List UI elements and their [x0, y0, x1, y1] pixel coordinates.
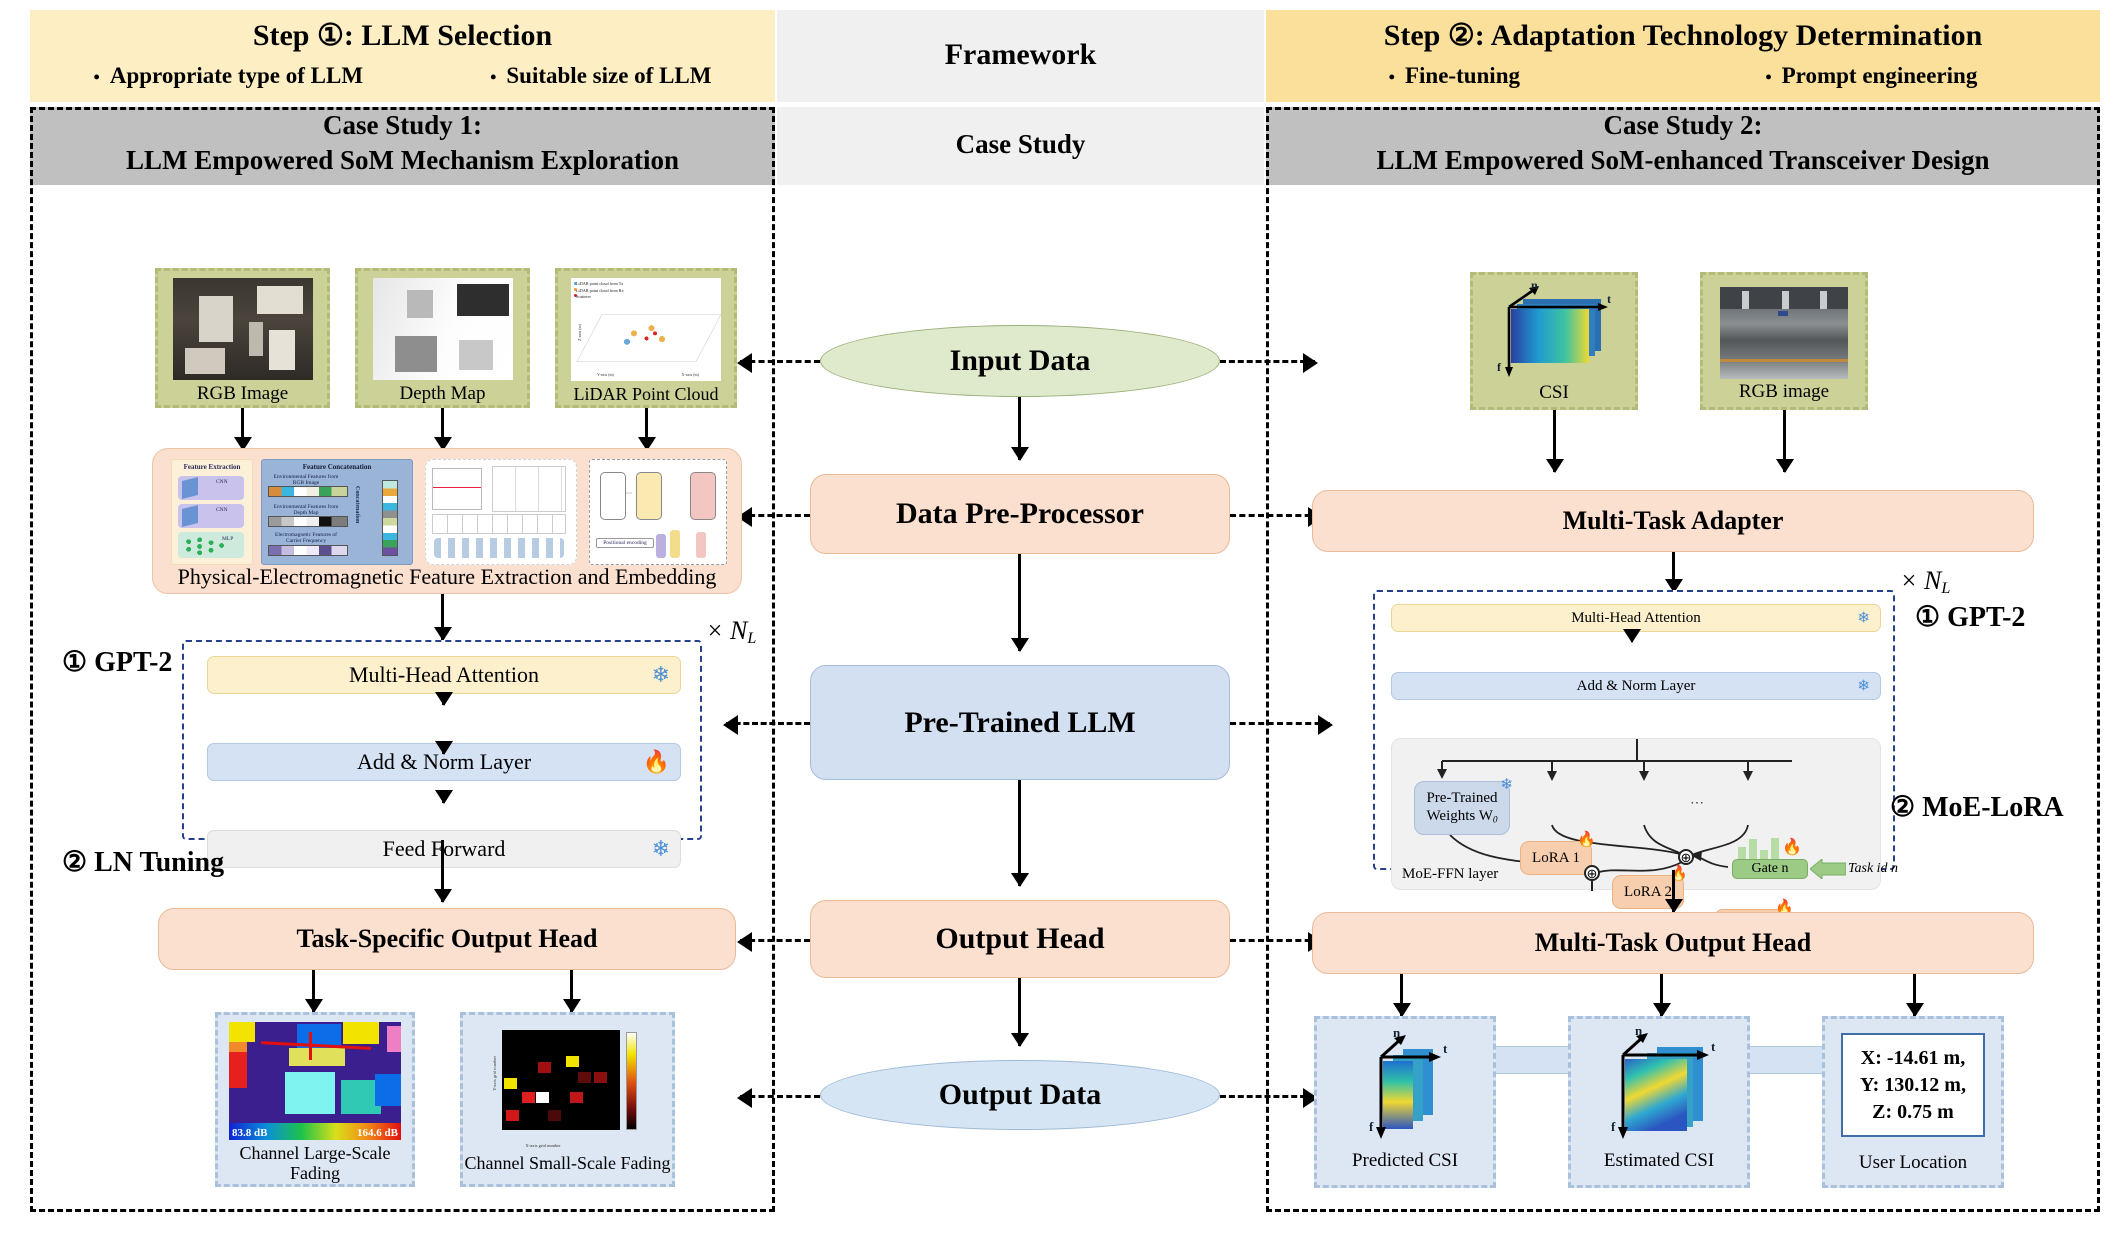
task-id-label: Task id n — [1848, 861, 1898, 877]
left-layer-arrow-0 — [442, 694, 445, 705]
connector-input-left — [740, 360, 820, 363]
encoder-label-1: CNN — [216, 507, 228, 513]
connector-outhead-left — [740, 939, 810, 942]
left-output-large-fading-caption: Channel Large-Scale Fading — [218, 1144, 412, 1184]
user-location-line-0: X: -14.61 m, — [1861, 1045, 1965, 1072]
frozen-icon: ❄ — [1857, 609, 1870, 628]
frozen-icon: ❄ — [652, 662, 670, 688]
feature-label-0: Environmental Features from RGB Image — [268, 474, 344, 486]
lidar-z-axis-label: Z-axis (m) — [577, 324, 582, 341]
lora-expert-0-label: LoRA 1 — [1532, 850, 1580, 867]
tuned-icon: 🔥 — [643, 749, 670, 775]
right-output-estimated-csi-caption: Estimated CSI — [1571, 1151, 1747, 1172]
right-output-predicted-csi-caption: Predicted CSI — [1317, 1151, 1493, 1172]
lidar-legend-0: LiDAR point cloud from Tx — [576, 281, 624, 288]
header-left-bullet-0: Appropriate type of LLM — [94, 63, 364, 89]
arrow-outhead-to-smallfade — [570, 970, 573, 1012]
diagram-root: Step ①: LLM Selection Appropriate type o… — [0, 0, 2121, 1235]
node-output-head[interactable]: Output Head — [810, 900, 1230, 978]
right-adapt-label-one: ① GPT-2 — [1915, 600, 2025, 634]
left-input-depth-caption: Depth Map — [358, 384, 527, 405]
right-layer-0[interactable]: Multi-Head Attention ❄ — [1391, 604, 1881, 632]
user-location-line-1: Y: 130.12 m, — [1860, 1072, 1966, 1099]
left-repeat-text: × N — [706, 616, 747, 645]
feature-box-caption: Physical-Electromagnetic Feature Extract… — [153, 564, 741, 590]
left-input-depth[interactable]: Depth Map — [355, 268, 530, 408]
left-adapt-label-two: ② LN Tuning — [62, 845, 224, 879]
arrow-llm-to-outhead — [1018, 780, 1021, 886]
arrow-depth-to-feature — [441, 408, 444, 450]
svg-text:t: t — [1607, 292, 1611, 306]
arrow-outhead-to-outdata — [1018, 978, 1021, 1046]
node-data-preprocessor[interactable]: Data Pre-Processor — [810, 474, 1230, 554]
encoder-label-2: MLP — [222, 536, 233, 542]
header-center-title: Framework — [777, 10, 1264, 72]
right-layer-1[interactable]: Add & Norm Layer ❄ — [1391, 672, 1881, 700]
lora-expert-1-label: LoRA 2 — [1624, 884, 1672, 901]
lidar-x-axis-label: X-axis (m) — [682, 372, 699, 377]
header-right-band: Step ②: Adaptation Technology Determinat… — [1266, 10, 2100, 102]
arrow-right-transformer-to-outhead — [1672, 870, 1675, 912]
feature-extraction-title: Feature Extraction — [172, 463, 252, 471]
node-pretrained-llm-label: Pre-Trained LLM — [904, 706, 1135, 740]
arrow-rgb-to-adapter — [1783, 410, 1786, 472]
right-output-user-location[interactable]: X: -14.61 m, Y: 130.12 m, Z: 0.75 m User… — [1822, 1016, 2004, 1188]
gate-box[interactable]: Gate n — [1732, 859, 1808, 879]
header-left-band: Step ①: LLM Selection Appropriate type o… — [30, 10, 775, 102]
connector-input-right — [1220, 360, 1315, 363]
node-output-data[interactable]: Output Data — [820, 1060, 1220, 1130]
svg-text:n: n — [1531, 281, 1538, 292]
left-input-lidar-caption: LiDAR Point Cloud — [558, 385, 734, 405]
arrow-outhead-to-estimated — [1660, 974, 1663, 1016]
right-repeat-label: × NL — [1900, 566, 1950, 598]
svg-text:n: n — [1393, 1025, 1401, 1040]
pretrained-weights-box[interactable]: Pre-Trained Weights W0 ❄ — [1414, 781, 1510, 835]
right-output-predicted-csi[interactable]: n t f Predicted CSI — [1314, 1016, 1496, 1188]
left-task-output-head-label: Task-Specific Output Head — [297, 924, 598, 954]
lora-expert-0[interactable]: LoRA 1 🔥 — [1520, 841, 1592, 875]
connector-preproc-left — [740, 514, 810, 517]
feature-concatenation-title: Feature Concatenation — [262, 463, 412, 471]
header-left-bullet-1: Suitable size of LLM — [490, 63, 711, 89]
feature-label-1: Environmental Features from Depth Map — [268, 504, 344, 516]
right-multitask-output-head-label: Multi-Task Output Head — [1535, 928, 1811, 958]
user-location-line-2: Z: 0.75 m — [1872, 1099, 1954, 1126]
right-multitask-adapter-label: Multi-Task Adapter — [1563, 506, 1784, 536]
left-input-rgb[interactable]: RGB Image — [155, 268, 330, 408]
arrow-feature-to-transformer — [441, 594, 444, 640]
connector-outhead-right — [1230, 939, 1320, 942]
feature-extraction-box[interactable]: Feature Extraction CNN CNN MLP Feature C… — [152, 448, 742, 594]
lora-ellipsis: ⋯ — [1690, 795, 1704, 812]
waveform-grid-panel — [425, 459, 577, 565]
right-adapt-label-two: ② MoE-LoRA — [1890, 790, 2064, 824]
frozen-icon: ❄ — [1500, 776, 1513, 795]
right-repeat-sub: L — [1941, 580, 1950, 597]
right-repeat-text: × N — [1900, 566, 1941, 595]
right-layer-1-label: Add & Norm Layer — [1577, 678, 1696, 695]
user-location-values-box: X: -14.61 m, Y: 130.12 m, Z: 0.75 m — [1841, 1033, 1985, 1137]
feature-extraction-panel: Feature Extraction CNN CNN MLP — [171, 459, 253, 565]
tuned-icon: 🔥 — [1577, 830, 1596, 849]
colorbar-min-label: 83.8 dB — [232, 1127, 267, 1139]
left-input-lidar[interactable]: LiDAR point cloud from Tx LiDAR point cl… — [555, 268, 737, 408]
right-layer-arrow-0 — [1631, 632, 1633, 642]
encoder-label-0: CNN — [216, 479, 228, 485]
concatenation-label: Concatenation — [354, 486, 360, 523]
arrow-preproc-to-llm — [1018, 554, 1021, 651]
arrow-outhead-to-predicted — [1400, 974, 1403, 1016]
positional-embedding-panel: ⋯ Positional encoding — [589, 459, 727, 565]
svg-text:n: n — [1635, 1025, 1643, 1038]
connector-outdata-right — [1220, 1095, 1315, 1098]
colorbar-max-label: 164.6 dB — [357, 1127, 398, 1139]
arrow-csi-to-adapter — [1553, 410, 1556, 472]
oplus-symbol: ⊕ — [1587, 867, 1598, 880]
positional-encoding-label: Positional encoding — [596, 538, 654, 548]
depth-map-preview — [373, 278, 513, 380]
casebar-center: Case Study — [777, 107, 1264, 185]
left-repeat-sub: L — [747, 630, 756, 647]
svg-text:f: f — [1497, 360, 1502, 374]
pretrained-weights-label: Pre-Trained Weights W — [1426, 790, 1497, 825]
connector-outdata-left — [740, 1095, 820, 1098]
node-data-preprocessor-label: Data Pre-Processor — [896, 497, 1144, 531]
arrow-adapter-to-transformer — [1672, 552, 1675, 592]
small-fading-xlabel: X-axis grid number — [526, 1143, 561, 1148]
connector-llm-right — [1230, 722, 1330, 725]
tuned-icon: 🔥 — [1782, 837, 1802, 857]
right-input-csi[interactable]: n t f CSI — [1470, 272, 1638, 410]
left-layer-2-label: Feed Forward — [383, 836, 506, 862]
left-layer-arrow-2 — [442, 792, 445, 803]
right-input-rgb[interactable]: RGB image — [1700, 272, 1868, 410]
right-layer-0-label: Multi-Head Attention — [1571, 610, 1701, 627]
right-rgb-image-preview — [1720, 287, 1848, 379]
large-scale-fading-preview: 83.8 dB 164.6 dB — [229, 1022, 401, 1140]
left-transformer-block[interactable]: Multi-Head Attention ❄ Add & Norm Layer … — [182, 640, 702, 840]
pretrained-weights-sub: 0 — [1493, 816, 1498, 826]
node-output-data-label: Output Data — [939, 1078, 1102, 1112]
right-output-estimated-csi[interactable]: n t f Estimated CSI — [1568, 1016, 1750, 1188]
small-fading-ylabel: Y-axis grid number — [492, 1056, 497, 1091]
right-output-user-location-caption: User Location — [1825, 1153, 2001, 1174]
header-right-bullet-0: Fine-tuning — [1389, 63, 1520, 89]
connector-llm-left — [726, 722, 810, 725]
casebar-center-title: Case Study — [777, 107, 1264, 160]
sum-node-experts: ⊕ — [1678, 849, 1694, 865]
feature-concatenation-panel: Feature Concatenation Environmental Feat… — [261, 459, 413, 565]
arrow-input-to-preproc — [1018, 397, 1021, 460]
arrow-outhead-to-location — [1913, 974, 1916, 1016]
left-layer-0-label: Multi-Head Attention — [349, 662, 539, 688]
arrow-lidar-to-feature — [645, 408, 648, 450]
left-output-large-fading[interactable]: 83.8 dB 164.6 dB Channel Large-Scale Fad… — [215, 1012, 415, 1187]
sum-node-output: ⊕ — [1584, 865, 1600, 881]
right-input-rgb-caption: RGB image — [1703, 382, 1865, 403]
left-layer-arrow-1 — [442, 743, 445, 754]
header-left-title: Step ①: LLM Selection — [30, 10, 775, 53]
left-task-output-head[interactable]: Task-Specific Output Head — [158, 908, 736, 970]
oplus-symbol: ⊕ — [1681, 851, 1692, 864]
node-input-data[interactable]: Input Data — [820, 325, 1220, 397]
lidar-legend-2: Scatterer — [576, 294, 624, 301]
left-output-small-fading[interactable]: Y-axis grid number X-axis grid number Ch… — [460, 1012, 675, 1187]
node-pretrained-llm[interactable]: Pre-Trained LLM — [810, 665, 1230, 780]
header-right-title: Step ②: Adaptation Technology Determinat… — [1266, 10, 2100, 53]
gate-histogram-icon — [1738, 837, 1784, 859]
svg-text:t: t — [1711, 1039, 1716, 1054]
csi-cube-preview: n t f — [1479, 281, 1629, 381]
connector-preproc-right — [1230, 514, 1320, 517]
node-input-data-label: Input Data — [950, 344, 1091, 378]
left-layer-0[interactable]: Multi-Head Attention ❄ — [207, 656, 681, 694]
svg-text:t: t — [1443, 1041, 1448, 1056]
frozen-icon: ❄ — [652, 836, 670, 862]
node-output-head-label: Output Head — [935, 922, 1104, 956]
left-adapt-label-one: ① GPT-2 — [62, 645, 172, 679]
left-layer-2[interactable]: Feed Forward ❄ — [207, 830, 681, 868]
moe-ffn-layer[interactable]: Pre-Trained Weights W0 ❄ LoRA 1 🔥 LoRA 2… — [1391, 738, 1881, 890]
svg-text:f: f — [1369, 1119, 1374, 1134]
rgb-image-preview — [173, 278, 313, 380]
small-scale-fading-preview: Y-axis grid number X-axis grid number — [478, 1022, 658, 1150]
svg-text:f: f — [1611, 1119, 1616, 1134]
header-right-bullet-1: Prompt engineering — [1765, 63, 1977, 89]
right-input-csi-caption: CSI — [1473, 383, 1635, 404]
right-multitask-output-head[interactable]: Multi-Task Output Head — [1312, 912, 2034, 974]
lidar-point-cloud-preview: LiDAR point cloud from Tx LiDAR point cl… — [571, 278, 721, 381]
left-repeat-label: × NL — [706, 616, 756, 648]
right-multitask-adapter[interactable]: Multi-Task Adapter — [1312, 490, 2034, 552]
header-center-band: Framework — [777, 10, 1264, 102]
arrow-transformer-to-outhead-left — [441, 840, 444, 902]
left-input-rgb-caption: RGB Image — [158, 384, 327, 405]
left-output-small-fading-caption: Channel Small-Scale Fading — [463, 1154, 672, 1174]
moe-ffn-layer-label: MoE-FFN layer — [1402, 866, 1498, 883]
arrow-rgb-to-feature — [241, 408, 244, 450]
gate-label: Gate n — [1752, 861, 1789, 877]
right-transformer-block[interactable]: Multi-Head Attention ❄ Add & Norm Layer … — [1373, 590, 1895, 870]
arrow-outhead-to-largefade — [312, 970, 315, 1012]
feature-label-2: Electromagnetic Features of Carrier Freq… — [268, 532, 344, 544]
frozen-icon: ❄ — [1857, 677, 1870, 696]
lidar-y-axis-label: Y-axis (m) — [597, 372, 614, 377]
